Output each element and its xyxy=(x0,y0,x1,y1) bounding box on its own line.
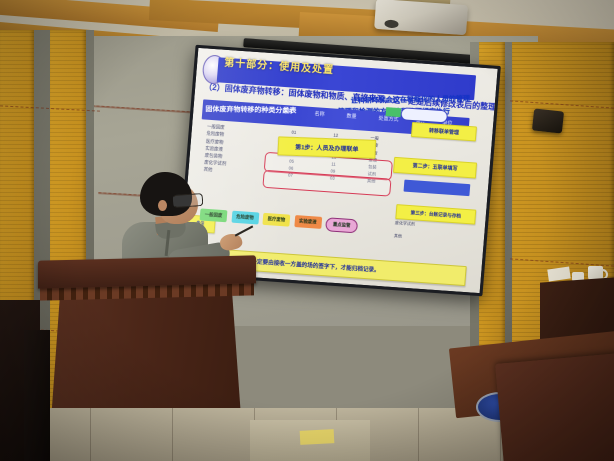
projector-body xyxy=(374,0,468,35)
handwritten-annotation: 让科研环保会议在智能化的人员的管理 xyxy=(351,93,470,105)
floor-tile-seam xyxy=(172,408,173,461)
slide-callout-right: 第二步：五联单填写 xyxy=(393,156,477,178)
legend-tag-highlighted: 重点监管 xyxy=(325,217,358,234)
legend-tag: 危险废物 xyxy=(231,210,259,224)
slide-small-text: 其他 xyxy=(394,233,402,240)
legend-tag: 医疗废物 xyxy=(262,213,290,227)
lectern-top xyxy=(38,255,256,288)
table-column-header: 数量 xyxy=(346,113,357,121)
diagram-node-icon xyxy=(386,107,402,117)
eyeglasses-icon xyxy=(173,193,204,208)
yellow-paper-on-floor xyxy=(300,429,335,445)
floor-tile-seam xyxy=(90,408,91,461)
ceiling-projector xyxy=(374,0,469,41)
handwritten-table-title: 固体废弃物转移的种类分类表 xyxy=(205,104,344,124)
slide-table-row-labels: 一般固废 危险废物 医疗废物 实验废液 废包装物 废化学试剂 其他 xyxy=(200,123,270,178)
conference-table-near xyxy=(495,348,614,461)
slide-callout-center: 第1步：人员及办理联单 xyxy=(277,136,376,158)
dark-equipment-stand xyxy=(24,330,50,461)
lecture-room-photo: 第十部分：使用及处置 （2）固体废弃物转移：固体废物和物质、直接来源，这一定是后… xyxy=(0,0,614,461)
presenter-ear xyxy=(158,200,167,211)
wall-speaker xyxy=(532,108,564,133)
slide-blue-caption-bar xyxy=(403,180,470,197)
floor-tile-seam xyxy=(418,408,419,461)
legend-tag: 实验废液 xyxy=(294,215,322,229)
slide-small-text: 废化学试剂 xyxy=(395,220,415,227)
